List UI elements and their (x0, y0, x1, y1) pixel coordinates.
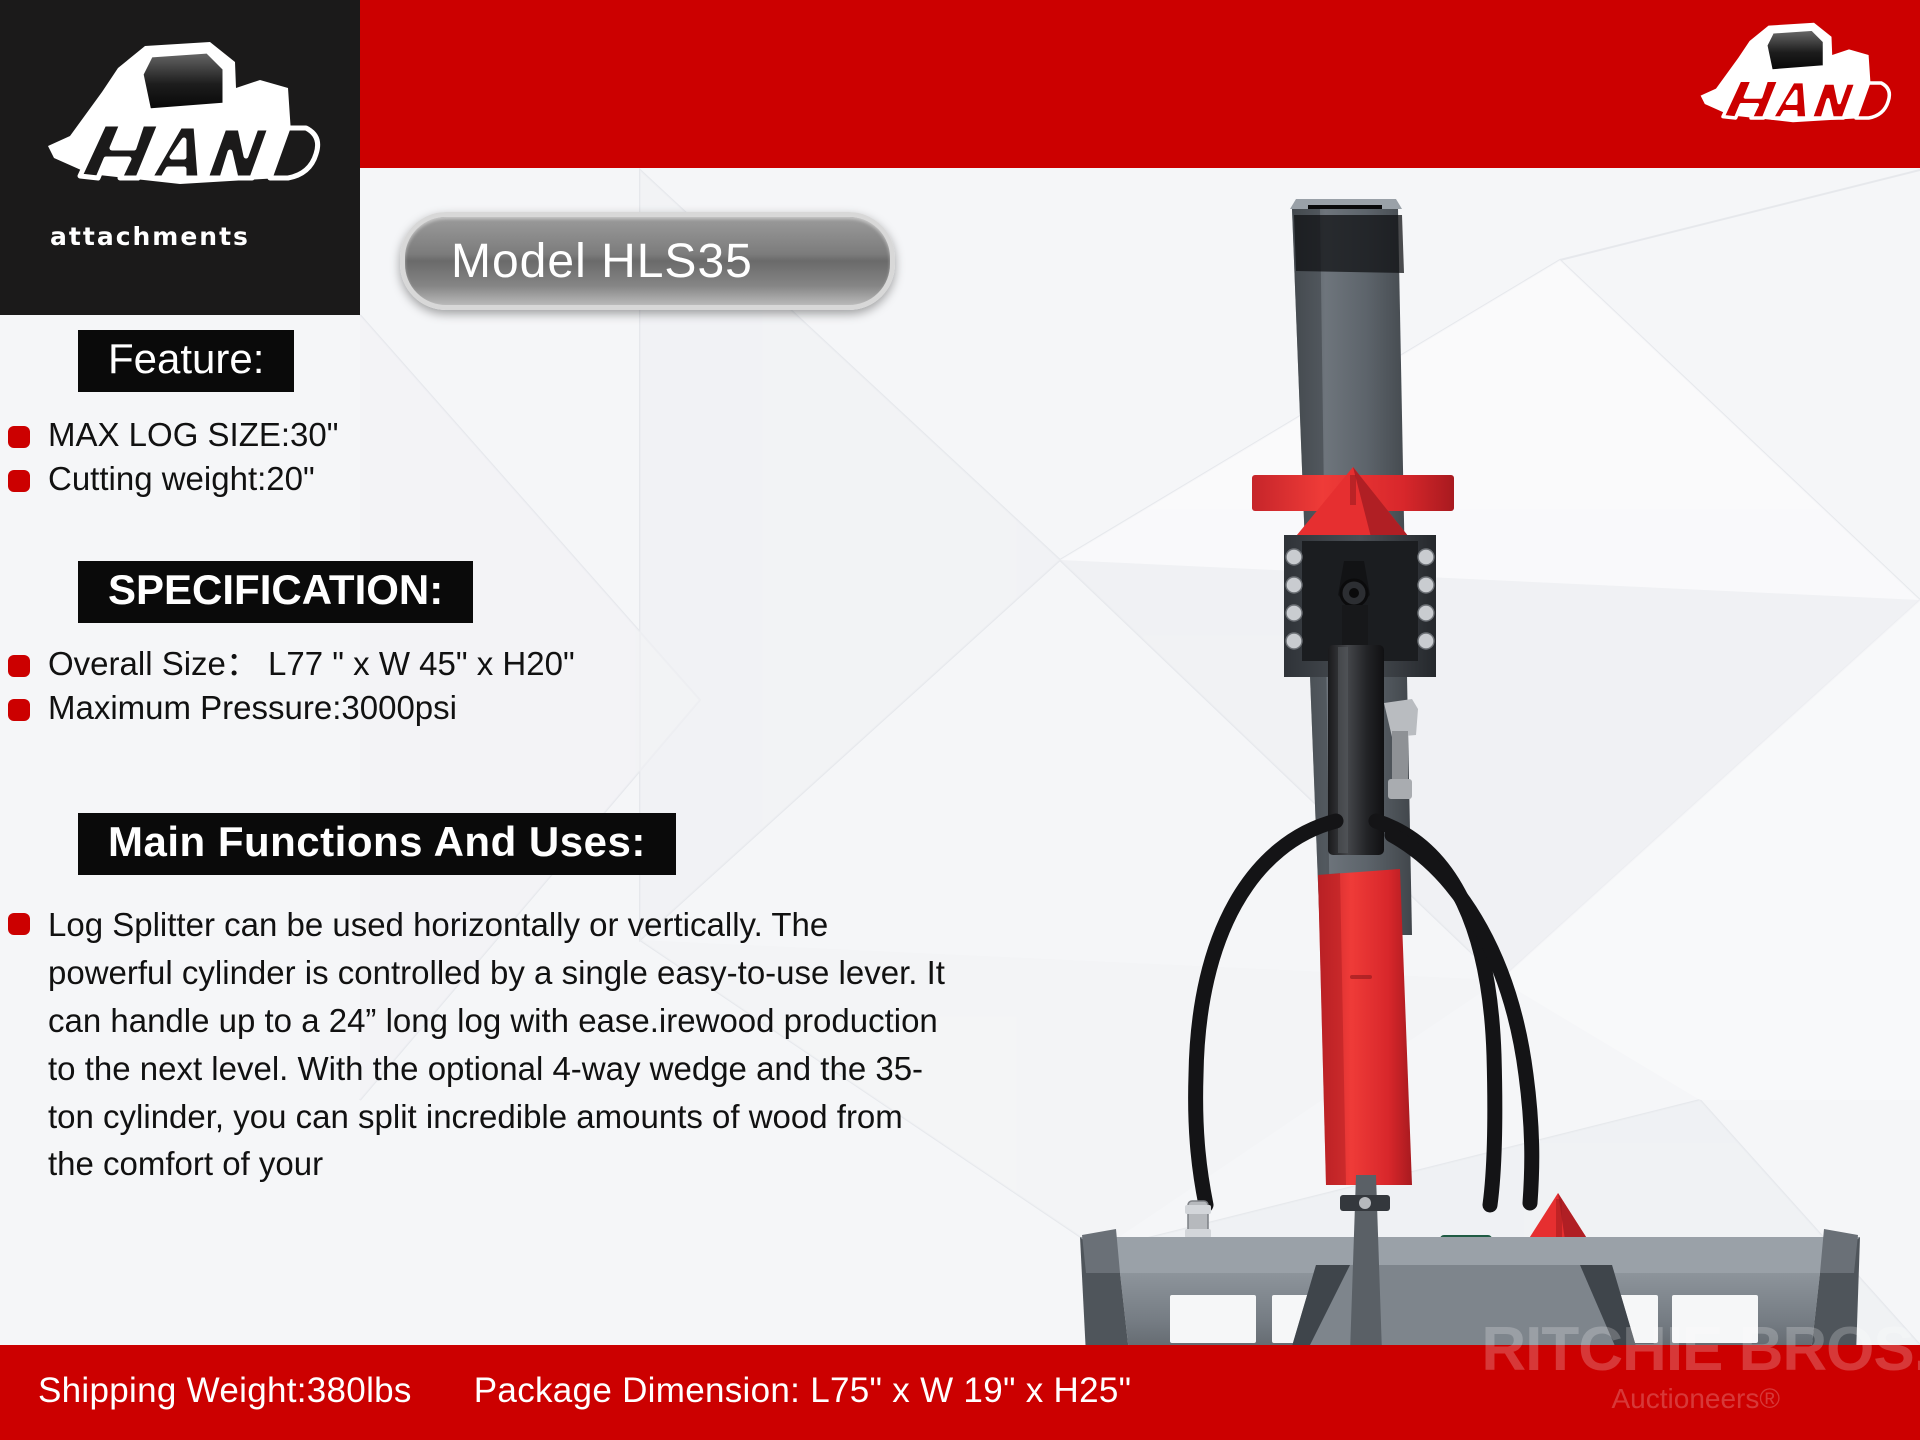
package-dimension: Package Dimension: L75" x W 19" x H25" (474, 1371, 1132, 1410)
list-item: Cutting weight:20" (0, 458, 980, 500)
bullet-icon (8, 913, 30, 935)
list-item: Log Splitter can be used horizontally or… (0, 901, 948, 1188)
spec-content: Feature: MAX LOG SIZE:30" Cutting weight… (0, 330, 980, 1190)
specification-list: Overall Size： L77 " x W 45" x H20" Maxim… (0, 643, 980, 729)
product-spec-sheet: attachments Skid Steer Log Splitter Mode… (0, 0, 1920, 1440)
brand-tagline: attachments (0, 222, 300, 251)
model-badge: Model HLS35 (400, 212, 895, 310)
section-heading-specification: SPECIFICATION: (78, 561, 473, 623)
feature-list: MAX LOG SIZE:30" Cutting weight:20" (0, 414, 980, 500)
section-heading-feature: Feature: (78, 330, 294, 392)
bullet-icon (8, 655, 30, 677)
wedge-cross-bar (1252, 467, 1454, 541)
skid-steer-loader-icon-right (1688, 8, 1898, 158)
main-functions-list: Log Splitter can be used horizontally or… (0, 901, 980, 1188)
watermark-sub: Auctioneers® (1481, 1383, 1780, 1415)
bullet-icon (8, 470, 30, 492)
shipping-weight: Shipping Weight:380lbs (38, 1371, 412, 1410)
main-functions-paragraph: Log Splitter can be used horizontally or… (48, 906, 945, 1182)
skid-steer-loader-icon (30, 28, 330, 228)
model-badge-label: Model HLS35 (405, 234, 753, 289)
spec-item-0: Overall Size： L77 " x W 45" x H20" (48, 645, 575, 682)
footer-bar: RITCHIE BROS. Auctioneers® Shipping Weig… (0, 1345, 1920, 1440)
list-item: MAX LOG SIZE:30" (0, 414, 980, 456)
footer-shipping-info: Shipping Weight:380lbs Package Dimension… (38, 1371, 1131, 1411)
body-panel (1318, 869, 1412, 1185)
list-item: Maximum Pressure:3000psi (0, 687, 980, 729)
spec-item-1: Maximum Pressure:3000psi (48, 689, 457, 726)
bullet-icon (8, 426, 30, 448)
feature-item-1: Cutting weight:20" (48, 460, 315, 497)
list-item: Overall Size： L77 " x W 45" x H20" (0, 643, 980, 685)
section-heading-main-functions: Main Functions And Uses: (78, 813, 676, 875)
bullet-icon (8, 699, 30, 721)
product-photo (1020, 175, 1920, 1345)
brand-logo-panel: attachments (0, 0, 360, 315)
feature-item-0: MAX LOG SIZE:30" (48, 416, 338, 453)
